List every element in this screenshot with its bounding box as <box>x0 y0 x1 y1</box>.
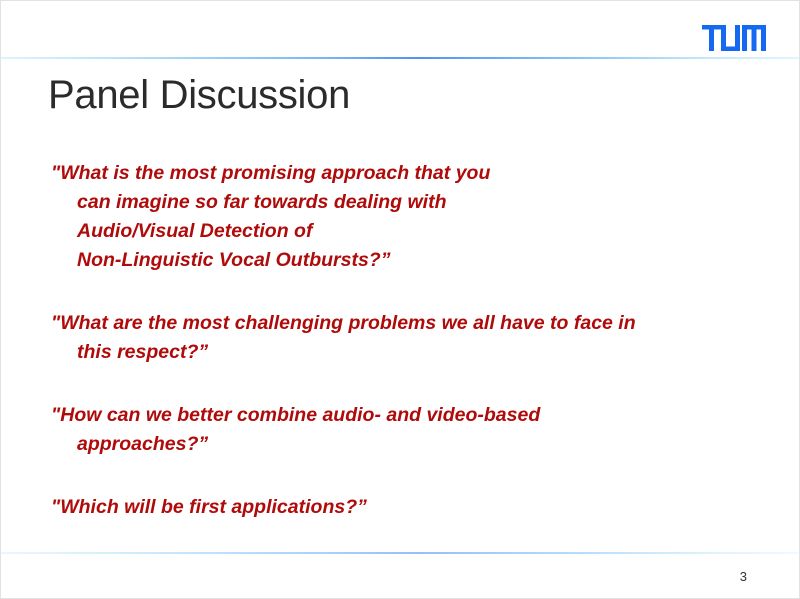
header-divider <box>1 57 800 59</box>
page-title: Panel Discussion <box>48 73 350 118</box>
quote-block: "Which will be first applications?” <box>51 493 761 522</box>
quote-line: can imagine so far towards dealing with <box>51 188 761 217</box>
quote-block: "What are the most challenging problems … <box>51 309 761 367</box>
quote-line: approaches?” <box>51 430 761 459</box>
page-number: 3 <box>740 569 747 584</box>
slide: Panel Discussion "What is the most promi… <box>0 0 800 599</box>
tum-logo <box>702 25 766 51</box>
quote-line: Audio/Visual Detection of <box>51 217 761 246</box>
quote-line: Non-Linguistic Vocal Outbursts?” <box>51 246 761 275</box>
footer-divider <box>1 552 800 554</box>
quote-block: "How can we better combine audio- and vi… <box>51 401 761 459</box>
quote-line: this respect?” <box>51 338 761 367</box>
quote-list: "What is the most promising approach tha… <box>51 159 761 522</box>
quote-line: "Which will be first applications?” <box>51 493 761 522</box>
quote-block: "What is the most promising approach tha… <box>51 159 761 275</box>
quote-line: "What are the most challenging problems … <box>51 309 761 338</box>
quote-line: "How can we better combine audio- and vi… <box>51 401 761 430</box>
quote-line: "What is the most promising approach tha… <box>51 159 761 188</box>
